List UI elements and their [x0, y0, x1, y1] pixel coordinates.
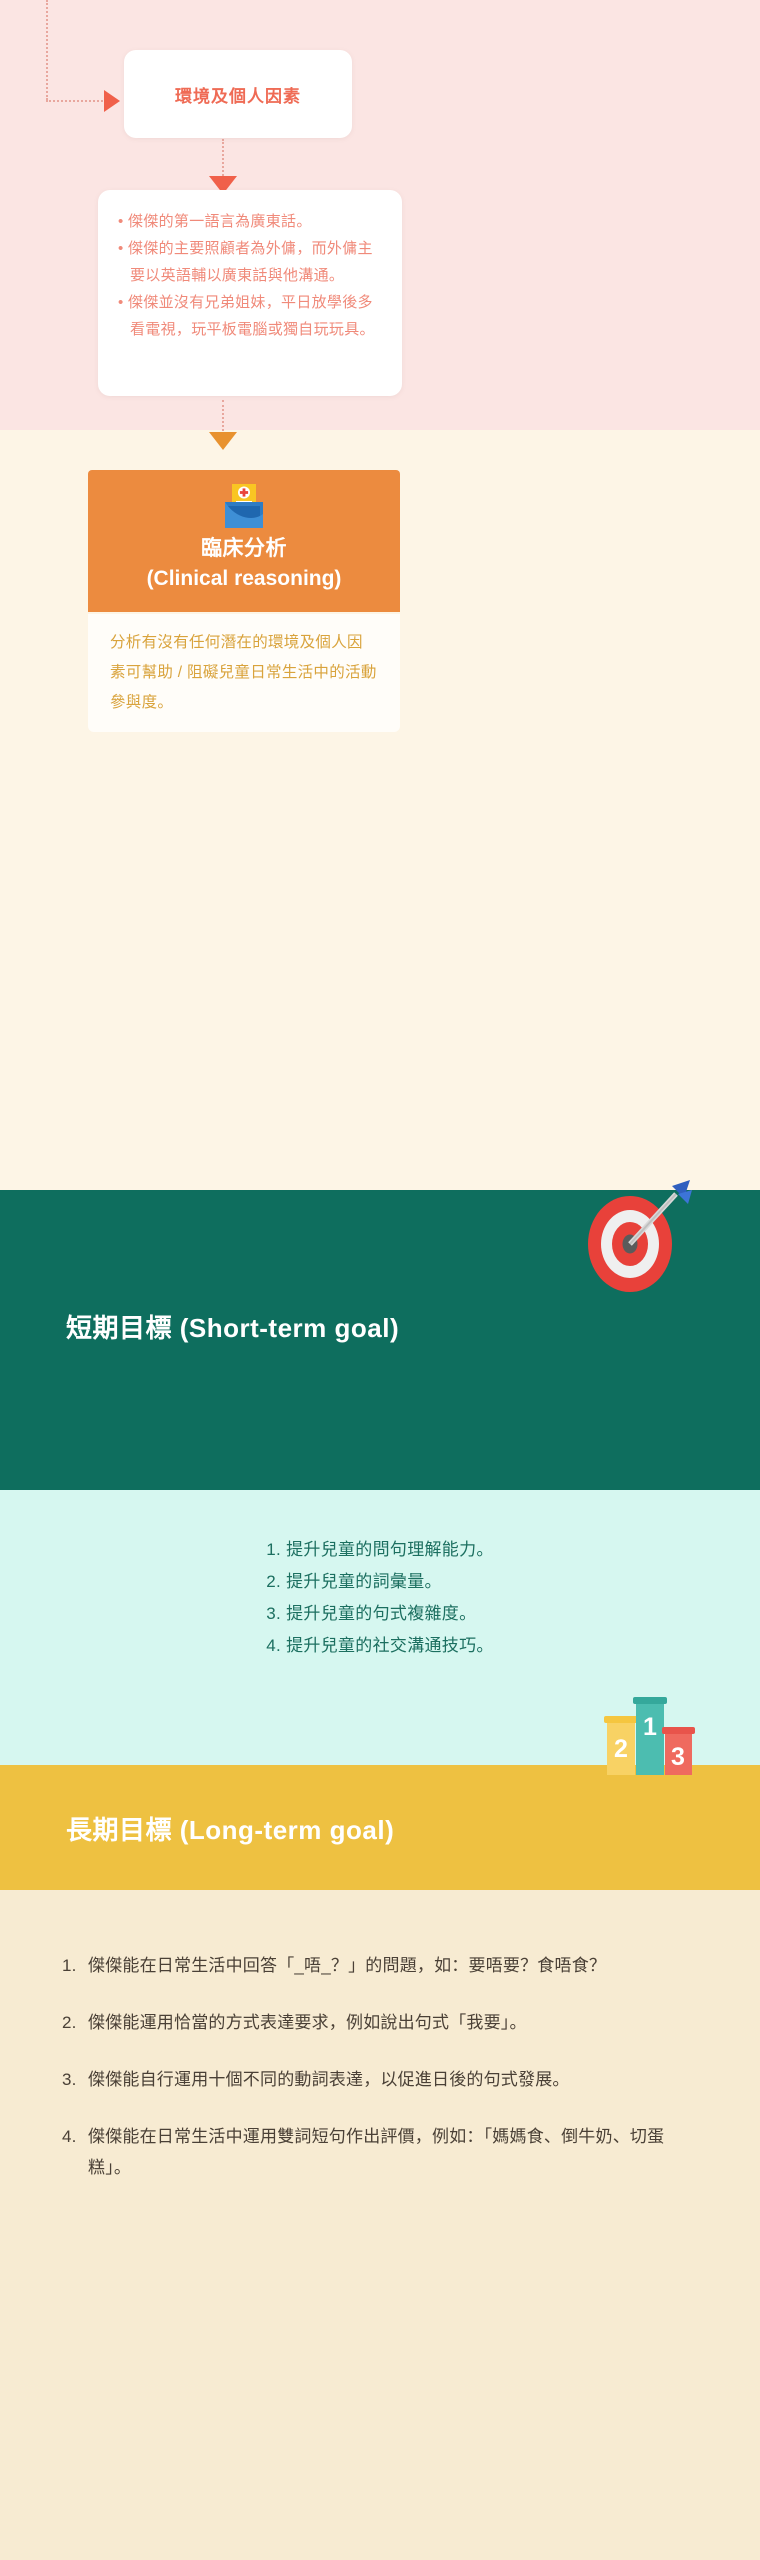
clinical-body-text: 分析有沒有任何潛在的環境及個人因素可幫助 / 阻礙兒童日常生活中的活動參與度。	[110, 628, 378, 718]
list-item: 3. 提升兒童的句式複雜度。	[266, 1598, 493, 1630]
list-item-number: 2.	[62, 2007, 88, 2038]
list-item-text: 傑傑能自行運用十個不同的動詞表達，以促進日後的句式發展。	[88, 2070, 570, 2089]
environment-title-card: 環境及個人因素	[124, 50, 352, 138]
list-item: 4. 提升兒童的社交溝通技巧。	[266, 1630, 493, 1662]
connector-line-bullets-to-clinical	[222, 400, 224, 435]
svg-text:2: 2	[614, 1735, 628, 1763]
list-item-text: 傑傑能運用恰當的方式表達要求，例如說出句式「我要」。	[88, 2013, 527, 2032]
list-item-number: 4.	[266, 1636, 281, 1655]
clinical-reasoning-header-card: 臨床分析 (Clinical reasoning)	[88, 470, 400, 612]
connector-line-title-to-bullets	[222, 139, 224, 179]
list-item: 4.傑傑能在日常生活中運用雙詞短句作出評價，例如：「媽媽食、倒牛奶、切蛋糕」。	[62, 2121, 702, 2183]
svg-text:1: 1	[643, 1713, 657, 1741]
list-item-number: 1.	[62, 1950, 88, 1981]
list-item-text: 提升兒童的問句理解能力。	[286, 1540, 494, 1559]
connector-line-incoming-vertical	[46, 0, 48, 100]
list-item-text: 傑傑能在日常生活中回答「_唔_？」的問題，如：要唔要？食唔食？	[88, 1956, 606, 1975]
list-item-text: 提升兒童的句式複雜度。	[286, 1604, 476, 1623]
list-item-number: 1.	[266, 1540, 281, 1559]
environment-bullets-card: 傑傑的第一語言為廣東話。 傑傑的主要照顧者為外傭，而外傭主要以英語輔以廣東話與他…	[98, 190, 402, 396]
list-item: 1. 提升兒童的問句理解能力。	[266, 1534, 493, 1566]
podium-icon: 2 1 3	[580, 1693, 700, 1791]
long-term-goal-list-container: 1.傑傑能在日常生活中回答「_唔_？」的問題，如：要唔要？食唔食？ 2.傑傑能運…	[62, 1950, 702, 2209]
list-item: 1.傑傑能在日常生活中回答「_唔_？」的問題，如：要唔要？食唔食？	[62, 1950, 702, 1981]
clinical-title-en: (Clinical reasoning)	[88, 564, 400, 594]
arrow-down-icon-orange	[209, 432, 237, 450]
environment-title-text: 環境及個人因素	[175, 82, 301, 107]
environment-bullet-list: 傑傑的第一語言為廣東話。 傑傑的主要照顧者為外傭，而外傭主要以英語輔以廣東話與他…	[118, 208, 382, 343]
list-item: 傑傑並沒有兄弟姐妹，平日放學後多看電視，玩平板電腦或獨自玩玩具。	[118, 289, 382, 343]
list-item-number: 3.	[62, 2064, 88, 2095]
dartboard-icon	[572, 1178, 696, 1302]
list-item: 2.傑傑能運用恰當的方式表達要求，例如說出句式「我要」。	[62, 2007, 702, 2038]
short-term-goal-list: 1. 提升兒童的問句理解能力。 2. 提升兒童的詞彙量。 3. 提升兒童的句式複…	[266, 1534, 493, 1662]
list-item-number: 3.	[266, 1604, 281, 1623]
clinical-reasoning-body-card: 分析有沒有任何潛在的環境及個人因素可幫助 / 阻礙兒童日常生活中的活動參與度。	[88, 614, 400, 732]
list-item: 3.傑傑能自行運用十個不同的動詞表達，以促進日後的句式發展。	[62, 2064, 702, 2095]
long-term-goal-list: 1.傑傑能在日常生活中回答「_唔_？」的問題，如：要唔要？食唔食？ 2.傑傑能運…	[62, 1950, 702, 2183]
list-item-number: 4.	[62, 2121, 88, 2152]
arrow-right-icon	[104, 90, 120, 112]
list-item-text: 傑傑能在日常生活中運用雙詞短句作出評價，例如：「媽媽食、倒牛奶、切蛋糕」。	[88, 2127, 664, 2177]
short-term-goal-list-container: 1. 提升兒童的問句理解能力。 2. 提升兒童的詞彙量。 3. 提升兒童的句式複…	[0, 1534, 760, 1662]
list-item-text: 提升兒童的社交溝通技巧。	[286, 1636, 494, 1655]
long-term-goal-title: 長期目標 (Long-term goal)	[66, 1810, 394, 1847]
list-item-number: 2.	[266, 1572, 281, 1591]
short-term-goal-title: 短期目標 (Short-term goal)	[66, 1308, 399, 1345]
list-item: 傑傑的主要照顧者為外傭，而外傭主要以英語輔以廣東話與他溝通。	[118, 235, 382, 289]
svg-text:3: 3	[671, 1743, 685, 1771]
connector-line-incoming-horizontal	[46, 100, 106, 102]
list-item-text: 提升兒童的詞彙量。	[286, 1572, 442, 1591]
clinical-title-zh: 臨床分析	[88, 534, 400, 564]
list-item: 2. 提升兒童的詞彙量。	[266, 1566, 493, 1598]
medical-folder-icon	[223, 484, 265, 528]
list-item: 傑傑的第一語言為廣東話。	[118, 208, 382, 235]
